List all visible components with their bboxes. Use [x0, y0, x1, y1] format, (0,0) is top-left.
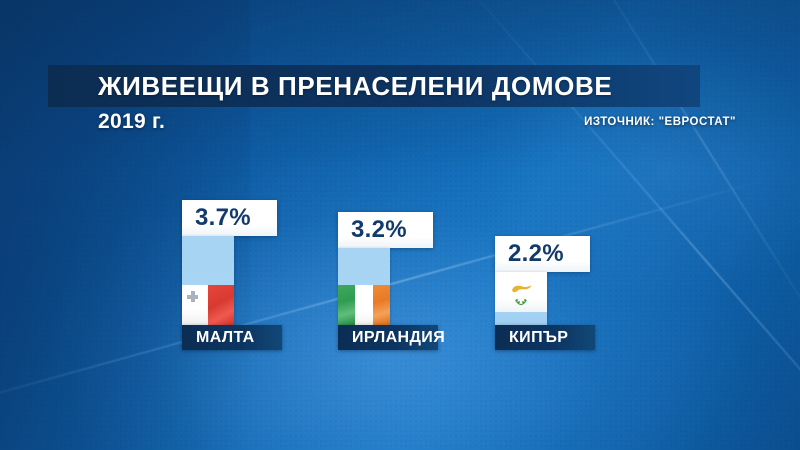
cyprus-island-icon [510, 283, 532, 295]
cyprus-olive-branches-icon [510, 296, 532, 306]
value-plaque: 2.2% [495, 236, 590, 272]
bar-value-label: 2.2% [495, 240, 564, 268]
bar-column [495, 272, 547, 325]
broadcast-graphic: ЖИВЕЕЩИ В ПРЕНАСЕЛЕНИ ДОМОВЕ 2019 г. ИЗТ… [0, 0, 800, 450]
country-label: КИПЪР [495, 329, 568, 347]
bar-group: 2.2%КИПЪР [0, 0, 800, 450]
country-label-plaque: КИПЪР [495, 325, 595, 350]
cyprus-flag [495, 272, 547, 312]
bar-chart: 3.7%МАЛТА3.2%ИРЛАНДИЯ2.2%КИПЪР [0, 0, 800, 450]
